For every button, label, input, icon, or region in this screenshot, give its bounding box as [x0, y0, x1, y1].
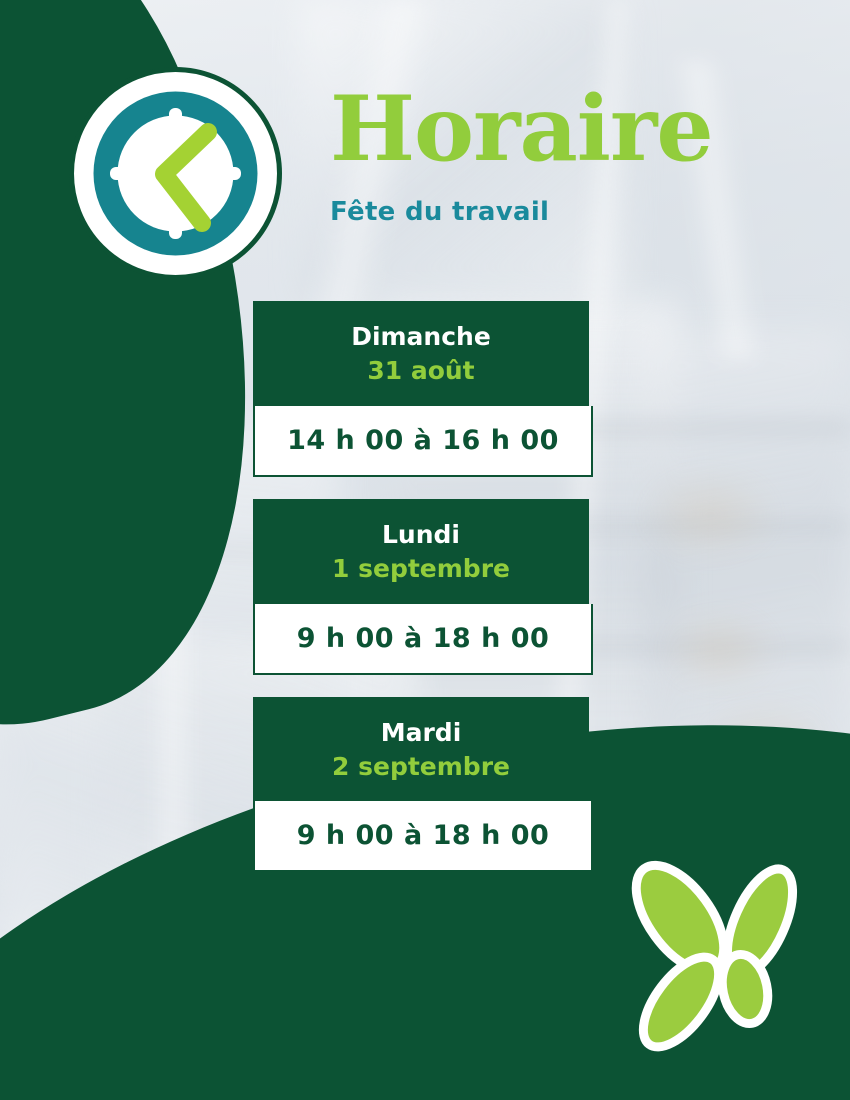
butterfly-leaf-logo-icon	[612, 856, 830, 1056]
page-subtitle: Fête du travail	[330, 197, 713, 227]
background-warm-blob	[640, 470, 780, 560]
schedule-list: Dimanche 31 août 14 h 00 à 16 h 00 Lundi…	[253, 301, 593, 894]
clock-icon	[68, 66, 283, 281]
schedule-card: Mardi 2 septembre 9 h 00 à 18 h 00	[253, 697, 593, 873]
schedule-day-label: Lundi	[263, 519, 579, 550]
schedule-date-label: 1 septembre	[263, 553, 579, 586]
schedule-hours-box: 9 h 00 à 18 h 00	[253, 801, 593, 872]
poster-header: Horaire Fête du travail	[330, 82, 713, 227]
schedule-day-label: Dimanche	[263, 321, 579, 352]
schedule-hours-label: 9 h 00 à 18 h 00	[265, 820, 581, 851]
schedule-card-header: Mardi 2 septembre	[253, 697, 589, 802]
page-title: Horaire	[330, 82, 713, 177]
schedule-card: Dimanche 31 août 14 h 00 à 16 h 00	[253, 301, 593, 477]
schedule-date-label: 2 septembre	[263, 751, 579, 784]
schedule-card-header: Lundi 1 septembre	[253, 499, 589, 604]
schedule-date-label: 31 août	[263, 355, 579, 388]
schedule-hours-label: 9 h 00 à 18 h 00	[265, 623, 581, 654]
schedule-poster: Horaire Fête du travail Dimanche 31 août…	[0, 0, 850, 1100]
schedule-card: Lundi 1 septembre 9 h 00 à 18 h 00	[253, 499, 593, 675]
schedule-card-header: Dimanche 31 août	[253, 301, 589, 406]
schedule-hours-label: 14 h 00 à 16 h 00	[265, 425, 581, 456]
schedule-hours-box: 14 h 00 à 16 h 00	[253, 406, 593, 477]
schedule-hours-box: 9 h 00 à 18 h 00	[253, 604, 593, 675]
background-warm-blob	[660, 610, 780, 690]
schedule-day-label: Mardi	[263, 717, 579, 748]
